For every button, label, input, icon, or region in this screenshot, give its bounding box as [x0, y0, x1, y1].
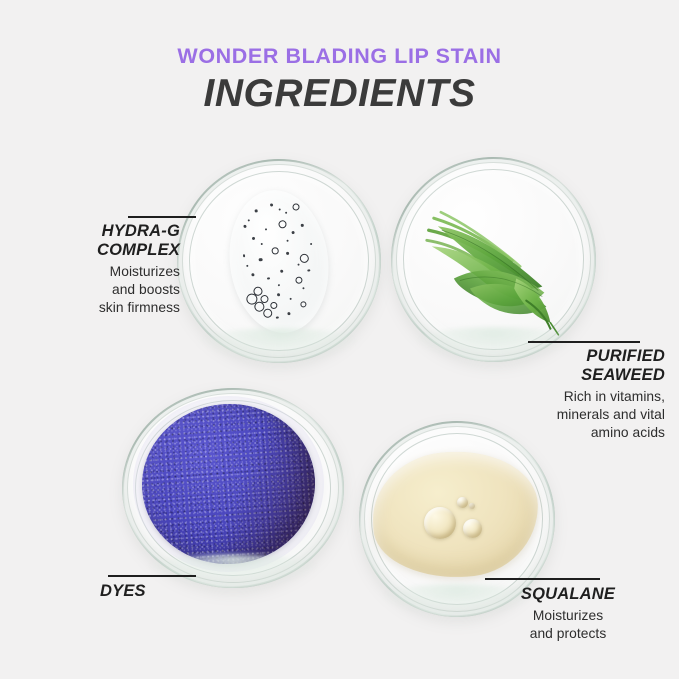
callout-desc-line2: minerals and vital — [557, 407, 665, 422]
callout-desc-line2: and protects — [530, 626, 607, 641]
callout-dyes: DYES — [100, 566, 250, 601]
petri-dish-hydra-g — [177, 159, 381, 363]
callout-purified-seaweed: PURIFIED SEAWEED Rich in vitamins, miner… — [500, 332, 665, 442]
infographic-canvas: WONDER BLADING LIP STAIN INGREDIENTS — [0, 0, 679, 679]
leader-line-squalane — [485, 578, 600, 580]
callout-desc-line3: skin firmness — [99, 300, 180, 315]
callout-title-line2: SEAWEED — [581, 366, 665, 384]
callout-description: Rich in vitamins, minerals and vital ami… — [500, 388, 665, 442]
callout-desc-line2: and boosts — [112, 282, 180, 297]
callout-squalane: SQUALANE Moisturizes and protects — [478, 569, 658, 643]
callout-desc-line1: Moisturizes — [110, 264, 180, 279]
leader-line-seaweed — [528, 341, 640, 343]
petri-dish-dyes — [122, 388, 344, 588]
callout-desc-line1: Moisturizes — [533, 608, 603, 623]
callout-title: PURIFIED SEAWEED — [500, 347, 665, 385]
leader-line-hydra-g — [128, 216, 196, 218]
callout-title-line1: DYES — [100, 582, 146, 600]
oil-droplet-medium — [463, 519, 482, 538]
callout-hydra-g: HYDRA-G COMPLEX Moisturizes and boosts s… — [20, 206, 180, 317]
callout-title-line2: COMPLEX — [97, 241, 180, 259]
callout-description: Moisturizes and boosts skin firmness — [20, 263, 180, 317]
callout-title: HYDRA-G COMPLEX — [20, 222, 180, 260]
blue-dye-powder-sample — [137, 398, 321, 570]
callout-title: DYES — [100, 582, 250, 601]
callout-desc-line3: amino acids — [591, 425, 665, 440]
callout-title-line1: PURIFIED — [586, 347, 665, 365]
leader-line-dyes — [108, 575, 196, 577]
product-kicker-title: WONDER BLADING LIP STAIN — [0, 44, 679, 69]
oil-droplet-large — [424, 507, 456, 539]
page-title: INGREDIENTS — [0, 72, 679, 116]
callout-title: SQUALANE — [478, 585, 658, 604]
callout-desc-line1: Rich in vitamins, — [564, 389, 665, 404]
callout-title-line1: HYDRA-G — [102, 222, 180, 240]
callout-description: Moisturizes and protects — [478, 607, 658, 643]
callout-title-line1: SQUALANE — [521, 585, 615, 603]
seaweed-sample — [407, 182, 579, 338]
